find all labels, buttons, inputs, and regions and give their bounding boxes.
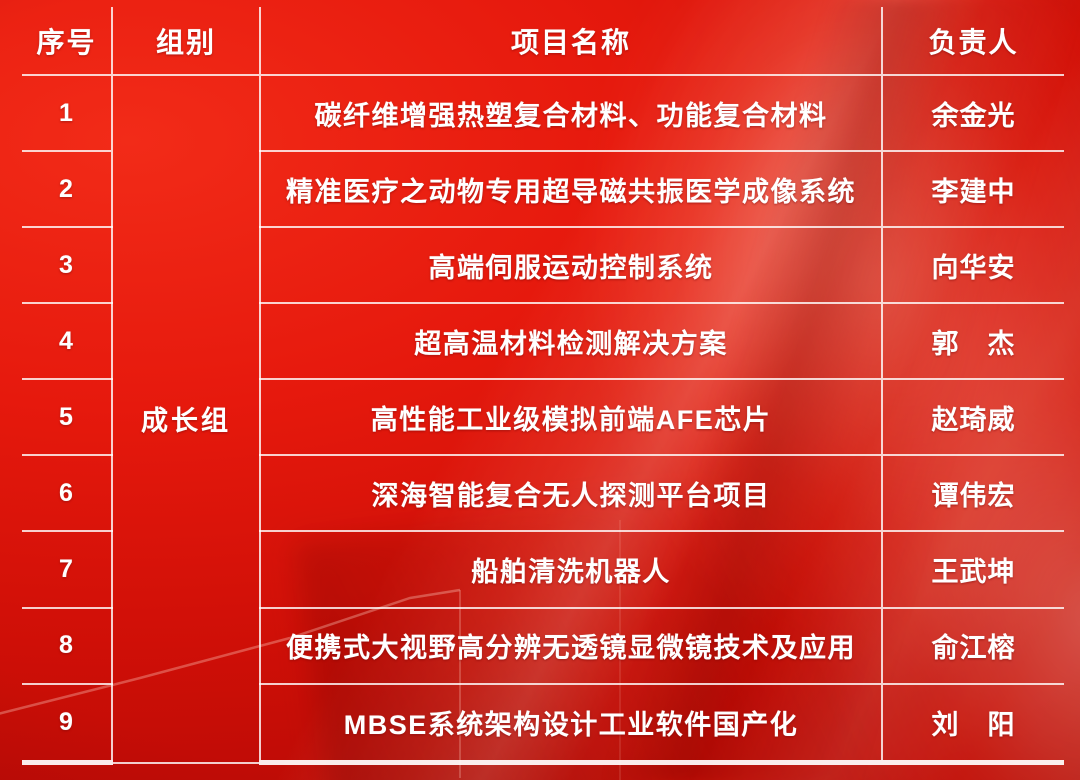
cell-project: 碳纤维增强热塑复合材料、功能复合材料 bbox=[260, 75, 882, 151]
cell-owner: 余金光 bbox=[882, 75, 1064, 151]
cell-owner: 赵琦威 bbox=[882, 379, 1064, 455]
cell-owner: 李建中 bbox=[882, 151, 1064, 227]
cell-seq: 8 bbox=[22, 608, 112, 684]
cell-seq: 9 bbox=[22, 684, 112, 763]
cell-project: 深海智能复合无人探测平台项目 bbox=[260, 455, 882, 531]
cell-owner: 向华安 bbox=[882, 227, 1064, 303]
table-row: 1 成长组 碳纤维增强热塑复合材料、功能复合材料 余金光 bbox=[22, 75, 1064, 151]
column-header-seq: 序号 bbox=[22, 7, 112, 75]
cell-project: 高性能工业级模拟前端AFE芯片 bbox=[260, 379, 882, 455]
column-header-owner: 负责人 bbox=[882, 7, 1064, 75]
column-header-project: 项目名称 bbox=[260, 7, 882, 75]
table-body: 1 成长组 碳纤维增强热塑复合材料、功能复合材料 余金光 2 精准医疗之动物专用… bbox=[22, 75, 1064, 763]
cell-owner: 王武坤 bbox=[882, 531, 1064, 607]
cell-seq: 5 bbox=[22, 379, 112, 455]
poster-canvas: 序号 组别 项目名称 负责人 1 成长组 碳纤维增强热塑复合材料、功能复合材料 … bbox=[0, 0, 1080, 780]
cell-group-merged: 成长组 bbox=[112, 75, 260, 763]
cell-seq: 4 bbox=[22, 303, 112, 379]
cell-project: 便携式大视野高分辨无透镜显微镜技术及应用 bbox=[260, 608, 882, 684]
cell-project: 高端伺服运动控制系统 bbox=[260, 227, 882, 303]
cell-owner: 刘 阳 bbox=[882, 684, 1064, 763]
project-list-table: 序号 组别 项目名称 负责人 1 成长组 碳纤维增强热塑复合材料、功能复合材料 … bbox=[22, 7, 1064, 765]
cell-seq: 3 bbox=[22, 227, 112, 303]
cell-owner: 谭伟宏 bbox=[882, 455, 1064, 531]
cell-owner: 郭 杰 bbox=[882, 303, 1064, 379]
cell-seq: 1 bbox=[22, 75, 112, 151]
cell-project: 精准医疗之动物专用超导磁共振医学成像系统 bbox=[260, 151, 882, 227]
cell-project: 船舶清洗机器人 bbox=[260, 531, 882, 607]
cell-seq: 6 bbox=[22, 455, 112, 531]
cell-seq: 2 bbox=[22, 151, 112, 227]
header-row: 序号 组别 项目名称 负责人 bbox=[22, 7, 1064, 75]
column-header-group: 组别 bbox=[112, 7, 260, 75]
cell-project: MBSE系统架构设计工业软件国产化 bbox=[260, 684, 882, 763]
project-list-table-wrapper: 序号 组别 项目名称 负责人 1 成长组 碳纤维增强热塑复合材料、功能复合材料 … bbox=[22, 7, 1064, 769]
cell-owner: 俞江榕 bbox=[882, 608, 1064, 684]
cell-project: 超高温材料检测解决方案 bbox=[260, 303, 882, 379]
table-header: 序号 组别 项目名称 负责人 bbox=[22, 7, 1064, 75]
cell-seq: 7 bbox=[22, 531, 112, 607]
